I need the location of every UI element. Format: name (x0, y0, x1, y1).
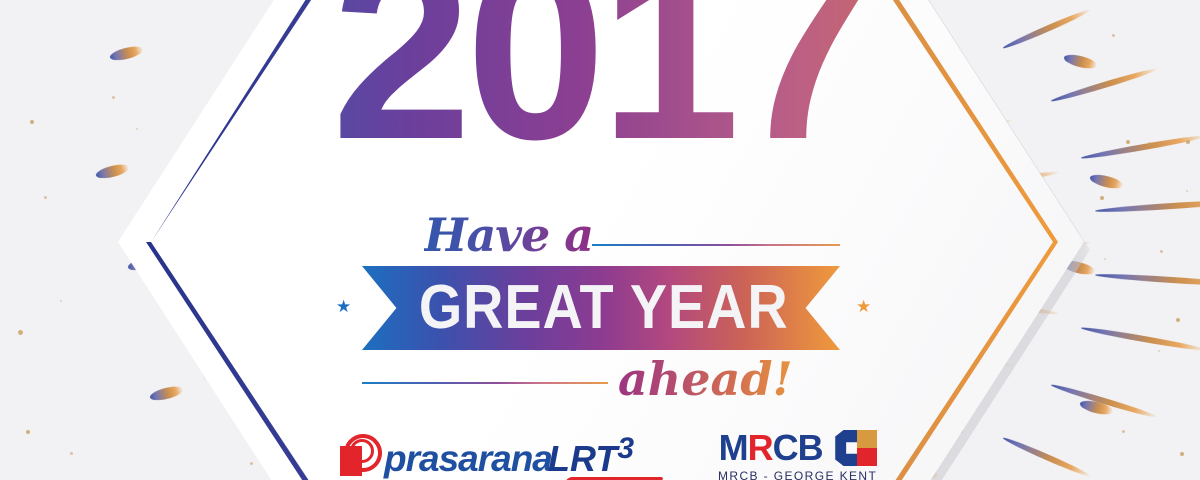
mrcb-logo-row: MRCB (719, 430, 877, 466)
lrt3-number: 3 (617, 432, 634, 465)
greeting-card-canvas: 2017 Have a GREAT YEAR ★ ★ ahead! prasar… (0, 0, 1200, 480)
greeting-top-row: Have a (0, 216, 1200, 260)
lrt3-wordmark: LRT3 (548, 434, 634, 477)
george-kent-mark-icon (833, 430, 877, 466)
year-heading: 2017 (0, 0, 1200, 178)
logo-mrcb-george-kent: MRCB MRCB - GEORGE KENT (718, 430, 877, 480)
ribbon-label: GREAT YEAR (386, 266, 816, 350)
lrt3-letters: LRT (548, 438, 617, 479)
burst-ray (1080, 325, 1200, 353)
burst-leaf (149, 384, 185, 403)
lrt3-swoosh-icon (566, 475, 698, 480)
burst-ray (1095, 198, 1200, 214)
confetti-dot (18, 330, 23, 335)
great-year-ribbon: GREAT YEAR (362, 266, 840, 350)
mrcb-wordmark: MRCB (719, 430, 823, 466)
confetti-dot (1186, 190, 1188, 192)
logo-strip: prasarana LRT3 MRCB MRCB - GEORGE KENT (0, 428, 1200, 480)
prasarana-mark-icon (338, 434, 378, 476)
confetti-dot (60, 300, 62, 302)
mrcb-subtitle: MRCB - GEORGE KENT (718, 469, 877, 480)
confetti-dot (1158, 350, 1160, 352)
mrcb-letter-r: R (748, 427, 773, 468)
burst-ray (1095, 272, 1200, 288)
confetti-dot (1176, 318, 1180, 322)
mrcb-letter-m: M (719, 427, 748, 468)
mrcb-letters-cb: CB (773, 427, 823, 468)
prasarana-wordmark: prasarana (384, 441, 552, 476)
confetti-dot (1100, 196, 1104, 200)
divider-rule-top (592, 244, 840, 246)
greeting-have-a-text: Have a (424, 212, 593, 258)
logo-prasarana: prasarana (338, 434, 552, 476)
divider-rule-bottom (362, 382, 608, 384)
greeting-ahead-text: ahead! (618, 356, 793, 402)
burst-ray (1050, 383, 1159, 421)
logo-lrt3: LRT3 (548, 434, 698, 480)
confetti-dot (44, 196, 47, 199)
